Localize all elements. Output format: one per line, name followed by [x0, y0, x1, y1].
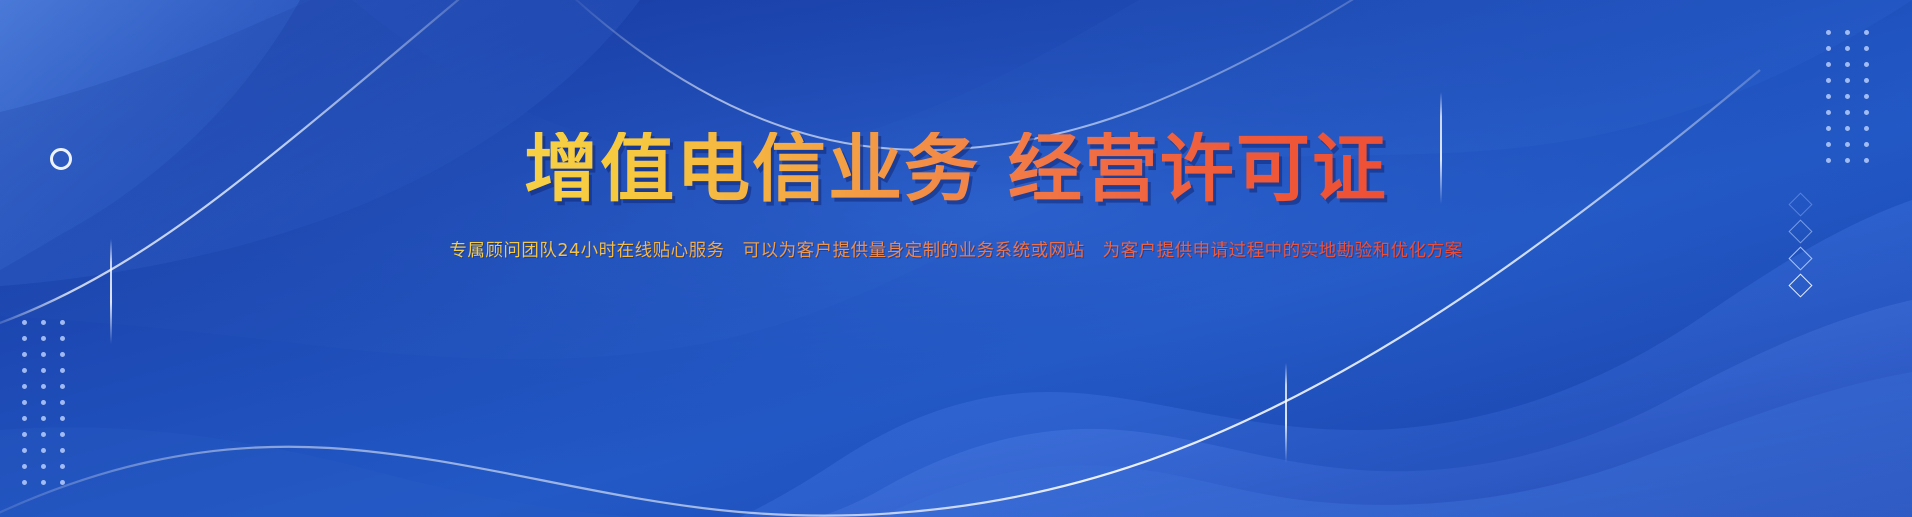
banner-subtitle: 专属顾问团队24小时在线贴心服务 可以为客户提供量身定制的业务系统或网站 为客户… — [449, 237, 1462, 262]
vertical-line-bottom — [1285, 363, 1287, 463]
banner-title: 增值电信业务 经营许可证 — [524, 132, 1388, 206]
diamond-icon — [1788, 273, 1812, 297]
banner-subtitle-container: 专属顾问团队24小时在线贴心服务 可以为客户提供量身定制的业务系统或网站 为客户… — [0, 237, 1912, 262]
promo-banner: 增值电信业务 经营许可证 专属顾问团队24小时在线贴心服务 可以为客户提供量身定… — [0, 0, 1912, 517]
dot-grid-bottom-left — [22, 320, 65, 485]
banner-title-container: 增值电信业务 经营许可证 — [0, 132, 1912, 206]
